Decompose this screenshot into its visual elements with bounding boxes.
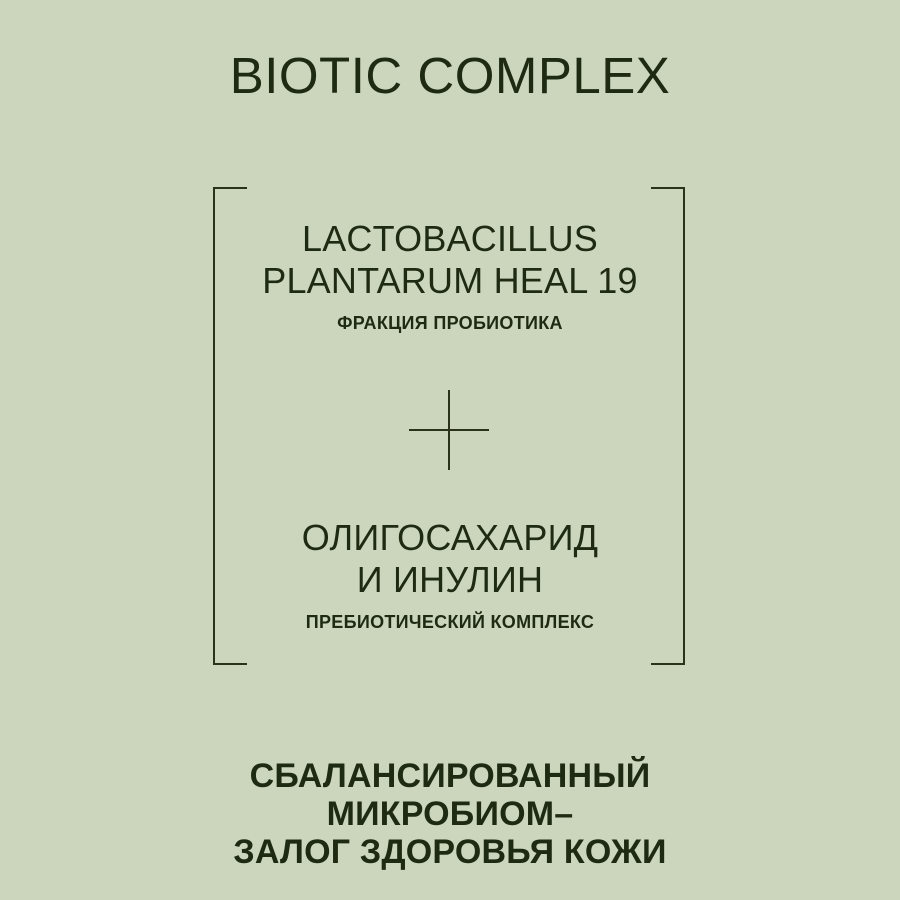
page-title: BIOTIC COMPLEX <box>0 46 900 106</box>
biotic-complex-poster: BIOTIC COMPLEX LACTOBACILLUS PLANTARUM H… <box>0 0 900 900</box>
plus-icon-vertical-bar <box>448 390 450 470</box>
ingredient-prebiotic: ОЛИГОСАХАРИД И ИНУЛИН ПРЕБИОТИЧЕСКИЙ КОМ… <box>0 517 900 633</box>
ingredient-prebiotic-name: ОЛИГОСАХАРИД И ИНУЛИН <box>0 517 900 601</box>
tagline: СБАЛАНСИРОВАННЫЙ МИКРОБИОМ– ЗАЛОГ ЗДОРОВ… <box>0 757 900 871</box>
ingredient-prebiotic-role: ПРЕБИОТИЧЕСКИЙ КОМПЛЕКС <box>0 611 900 633</box>
ingredient-probiotic-role: ФРАКЦИЯ ПРОБИОТИКА <box>0 312 900 334</box>
bracket-corner-top-right <box>651 187 685 221</box>
plus-icon <box>409 390 489 470</box>
bracket-corner-top-left <box>213 187 247 221</box>
ingredient-probiotic: LACTOBACILLUS PLANTARUM HEAL 19 ФРАКЦИЯ … <box>0 218 900 334</box>
ingredient-probiotic-name: LACTOBACILLUS PLANTARUM HEAL 19 <box>0 218 900 302</box>
bracket-corner-bottom-right <box>651 631 685 665</box>
bracket-corner-bottom-left <box>213 631 247 665</box>
